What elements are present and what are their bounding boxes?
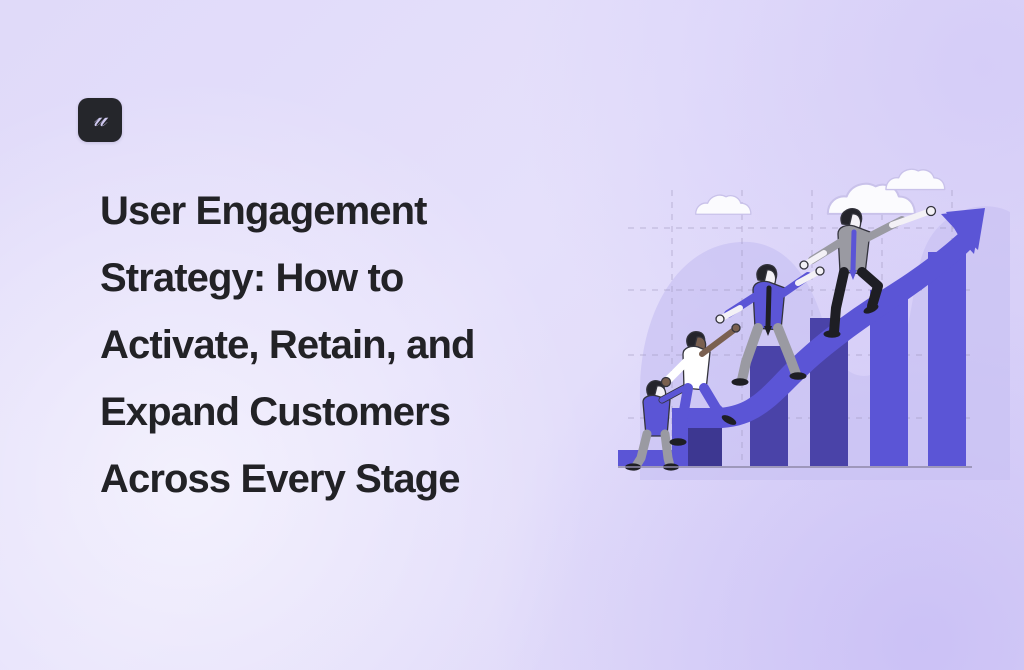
hero-canvas: 𝓊 User Engagement Strategy: How to Activ… [0, 0, 1024, 670]
shoe [824, 330, 841, 338]
userpilot-logo[interactable]: 𝓊 [78, 98, 122, 142]
growth-illustration [610, 150, 1010, 510]
shoe [670, 438, 687, 446]
logo-glyph: 𝓊 [93, 107, 107, 131]
bar-5 [928, 252, 966, 466]
cloud-small-left [696, 195, 751, 214]
shoe [790, 372, 807, 380]
shoe [732, 378, 749, 386]
growth-illustration-svg [610, 150, 1010, 510]
page-title: User Engagement Strategy: How to Activat… [100, 178, 580, 513]
cloud-small-right [886, 169, 945, 189]
